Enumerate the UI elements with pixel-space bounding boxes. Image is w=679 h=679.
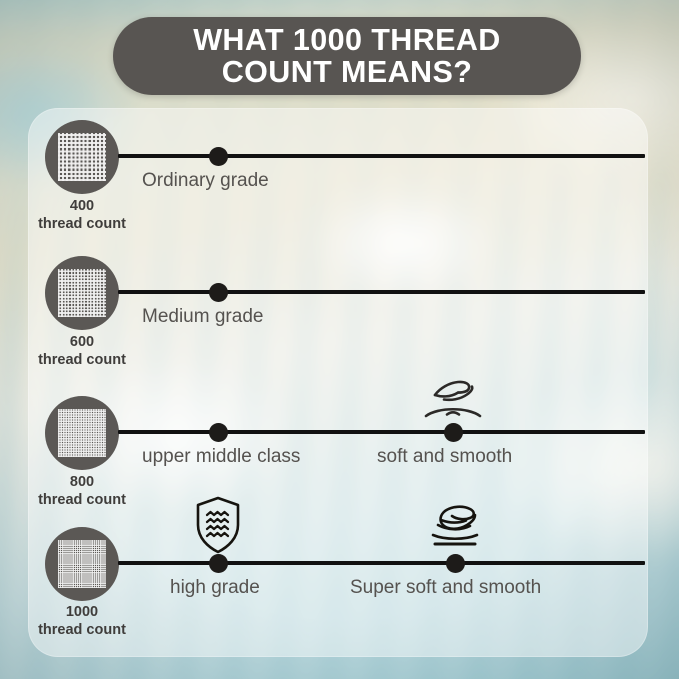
fabric-mesh-icon	[58, 540, 106, 588]
fabric-mesh-icon	[58, 409, 106, 457]
thread-count-value: 800	[7, 474, 157, 492]
thread-count-caption: 1000thread count	[7, 604, 157, 639]
thread-count-caption: 400thread count	[7, 198, 157, 233]
axis-line	[118, 290, 645, 294]
axis-node-label: Super soft and smooth	[350, 577, 541, 599]
thread-count-unit: thread count	[7, 352, 157, 370]
axis-line	[118, 430, 645, 434]
thread-count-caption: 800thread count	[7, 474, 157, 509]
thread-count-unit: thread count	[7, 216, 157, 234]
thread-count-circle	[45, 120, 119, 194]
axis-line	[118, 561, 645, 565]
thread-count-infographic: WHAT 1000 THREAD COUNT MEANS? 400thread …	[0, 0, 679, 679]
title-pill: WHAT 1000 THREAD COUNT MEANS?	[113, 17, 581, 95]
thread-count-circle	[45, 396, 119, 470]
axis-node-dot	[209, 283, 228, 302]
axis-line	[118, 154, 645, 158]
feather-icon	[420, 495, 490, 555]
axis-node-dot	[209, 554, 228, 573]
thread-count-circle	[45, 256, 119, 330]
axis-node-label: high grade	[170, 577, 260, 599]
title-line-1: WHAT 1000 THREAD	[193, 24, 500, 56]
thread-count-value: 600	[7, 334, 157, 352]
fabric-mesh-icon	[58, 269, 106, 317]
axis-node-dot	[446, 554, 465, 573]
title-line-2: COUNT MEANS?	[222, 56, 472, 88]
axis-node-label: Ordinary grade	[142, 170, 269, 192]
thread-count-circle	[45, 527, 119, 601]
axis-node-dot	[209, 423, 228, 442]
shield-waves-icon	[183, 495, 253, 555]
axis-node-dot	[209, 147, 228, 166]
axis-node-label: Medium grade	[142, 306, 263, 328]
axis-node-label: upper middle class	[142, 446, 300, 468]
thread-count-unit: thread count	[7, 492, 157, 510]
thread-count-caption: 600thread count	[7, 334, 157, 369]
axis-node-dot	[444, 423, 463, 442]
thread-count-value: 1000	[7, 604, 157, 622]
content-panel	[28, 108, 648, 657]
hand-stroking-icon	[418, 364, 488, 424]
axis-node-label: soft and smooth	[377, 446, 512, 468]
fabric-mesh-icon	[58, 133, 106, 181]
thread-count-unit: thread count	[7, 622, 157, 640]
thread-count-value: 400	[7, 198, 157, 216]
